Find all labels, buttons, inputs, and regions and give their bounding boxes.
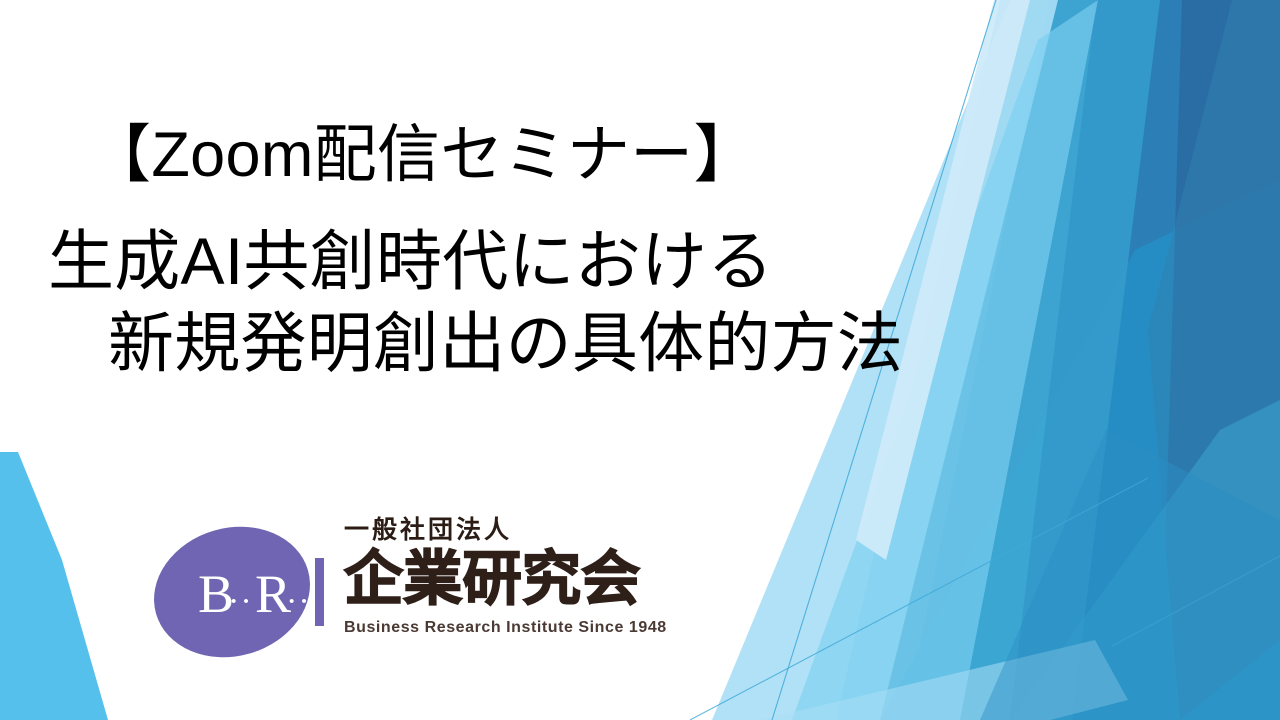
hairline-lower-diagonal <box>690 478 1148 720</box>
hairline-short-diagonal <box>1112 556 1280 646</box>
bri-logo-mark-icon: B ·· R ·· <box>152 516 342 668</box>
shape-cross-wedge <box>980 430 1280 720</box>
logo-wordmark: 一般社団法人 企業研究会 Business Research Institute… <box>344 518 722 668</box>
slide-canvas: 【Zoom配信セミナー】 生成AI共創時代における 新規発明創出の具体的方法 B… <box>0 0 1280 720</box>
logo-dots-1: ·· <box>228 583 253 620</box>
shape-top-right-sliver <box>1148 0 1280 720</box>
logo-dots-2: ·· <box>286 583 311 620</box>
shape-bottom-left-wedge <box>0 452 108 720</box>
seminar-format-label: 【Zoom配信セミナー】 <box>0 124 1060 187</box>
title-line-1: 生成AI共創時代における <box>0 221 1060 303</box>
logo-letter-i <box>315 558 324 626</box>
title-block: 【Zoom配信セミナー】 生成AI共創時代における 新規発明創出の具体的方法 <box>0 124 1060 385</box>
organization-logo: B ·· R ·· 一般社団法人 企業研究会 Business Research… <box>152 516 722 676</box>
shape-bottom-pale-wedge <box>760 640 1128 720</box>
shape-lower-light-overlay <box>1010 400 1280 720</box>
title-line-2: 新規発明創出の具体的方法 <box>0 303 1060 385</box>
logo-org-type: 一般社団法人 <box>344 518 722 543</box>
logo-org-name-english: Business Research Institute Since 1948 <box>344 620 722 636</box>
logo-org-name: 企業研究会 <box>344 550 722 609</box>
